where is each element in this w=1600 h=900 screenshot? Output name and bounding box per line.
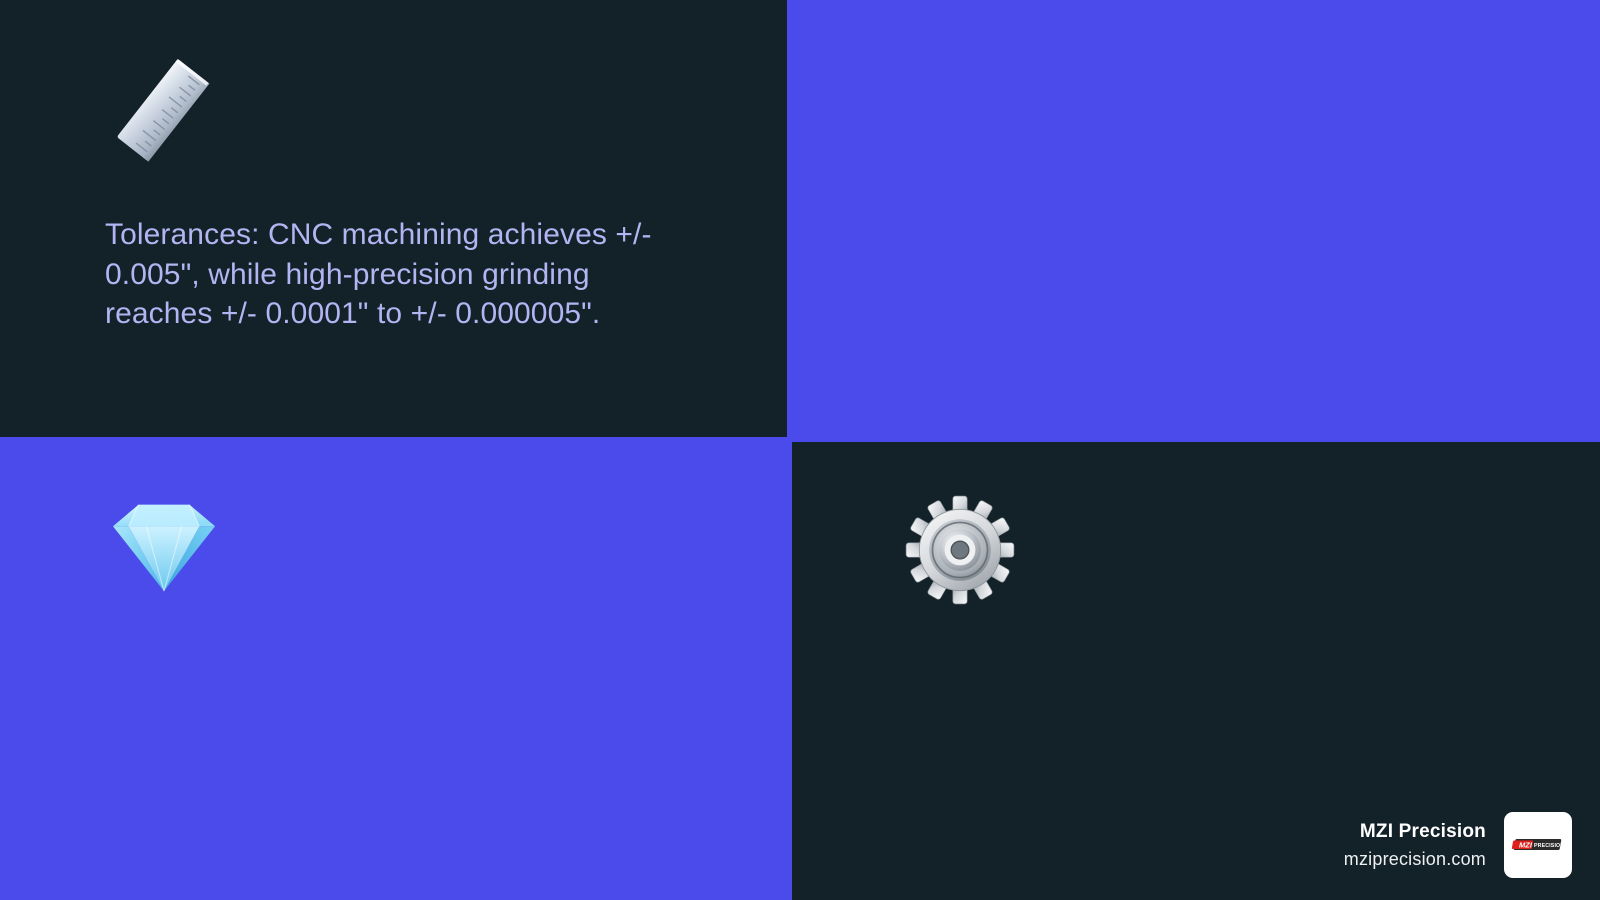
logo-mark: MZI PRECISION <box>1509 834 1567 856</box>
card-surface-finish: Surface Finish: Standard CNC produces 32… <box>787 0 1600 437</box>
card-tolerances: Tolerances: CNC machining achieves +/- 0… <box>0 0 787 437</box>
branding: MZI Precision mziprecision.com MZI PRECI… <box>1344 812 1572 878</box>
logo-text-mzi: MZI <box>1519 841 1533 850</box>
infographic-canvas: Tolerances: CNC machining achieves +/- 0… <box>0 0 1600 900</box>
card-applications: Applications: CNC for general manufactur… <box>787 437 1600 900</box>
gear-icon <box>905 495 1015 605</box>
card-body-tolerances: Tolerances: CNC machining achieves +/- 0… <box>105 215 705 334</box>
logo-text-precision: PRECISION <box>1534 843 1564 849</box>
branding-text: MZI Precision mziprecision.com <box>1344 821 1486 870</box>
gem-stone-icon <box>105 489 223 597</box>
mzi-precision-logo: MZI PRECISION <box>1504 812 1572 878</box>
company-name: MZI Precision <box>1344 821 1486 843</box>
card-applications-surface: Applications: CNC for general manufactur… <box>792 442 1600 900</box>
straight-ruler-icon <box>105 52 223 170</box>
card-materials: Materials: CNC works with standard metal… <box>0 437 787 900</box>
website-url[interactable]: mziprecision.com <box>1344 849 1486 870</box>
